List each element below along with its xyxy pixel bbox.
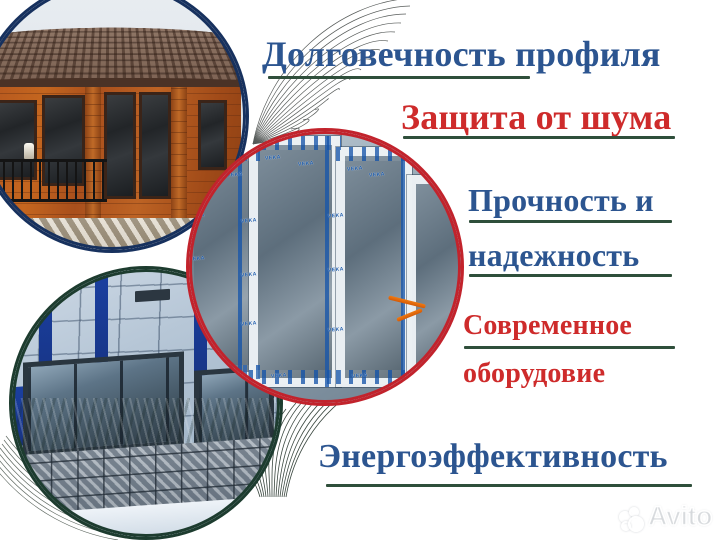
heading-strength-1: Прочность и — [468, 184, 654, 216]
heading-equipment-2: оборудовие — [463, 360, 605, 388]
rule-energy — [326, 484, 692, 487]
veka-label: VEKA — [189, 212, 205, 219]
rule-durability — [268, 76, 530, 79]
heading-strength-2: надежность — [468, 239, 639, 271]
veka-label: VEKA — [227, 171, 243, 178]
promo-banner: VEKA VEKA VEKA VEKA VEKA VEKA VEKA VEKA … — [0, 0, 720, 540]
avito-dots-icon — [619, 505, 643, 529]
veka-label: VEKA — [327, 326, 343, 333]
heading-noise-protection: Защита от шума — [401, 99, 671, 135]
heading-durability: Долговечность профиля — [262, 36, 661, 72]
avito-wordmark: Avito — [648, 501, 712, 532]
heading-energy: Энергоэффективность — [318, 440, 668, 474]
avito-watermark: Avito — [619, 501, 712, 532]
rule-noise-protection — [403, 136, 675, 139]
veka-label: VEKA — [368, 171, 384, 178]
rule-strength-1 — [469, 220, 672, 223]
rule-equipment-1 — [464, 346, 675, 349]
rule-strength-2 — [469, 274, 672, 277]
veka-label: VEKA — [298, 160, 314, 167]
photo-veka: VEKA VEKA VEKA VEKA VEKA VEKA VEKA VEKA … — [189, 131, 461, 403]
heading-equipment-1: Современное — [463, 312, 632, 340]
veka-label: VEKA — [327, 212, 343, 219]
